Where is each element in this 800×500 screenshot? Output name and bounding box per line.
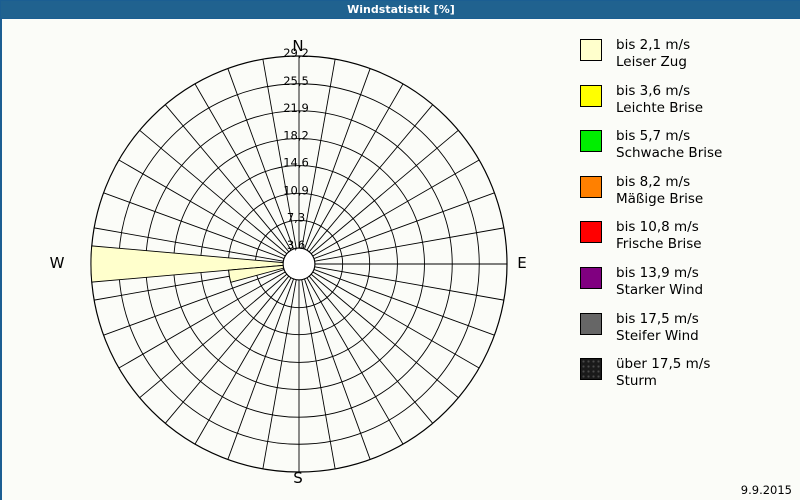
legend-color-swatch bbox=[580, 130, 602, 152]
legend-item[interactable]: bis 17,5 m/sSteifer Wind bbox=[580, 311, 699, 345]
legend-speed-label: bis 17,5 m/s bbox=[616, 311, 699, 327]
compass-label-north: N bbox=[268, 37, 328, 55]
window-title-bar: Windstatistik [%] bbox=[1, 1, 800, 18]
legend-speed-label: bis 13,9 m/s bbox=[616, 265, 699, 281]
legend-name-label: Leiser Zug bbox=[616, 54, 690, 71]
petal-layer bbox=[91, 246, 299, 282]
legend-name-label: Schwache Brise bbox=[616, 145, 722, 162]
legend-color-swatch bbox=[580, 313, 602, 335]
legend-label: bis 5,7 m/sSchwache Brise bbox=[616, 128, 722, 162]
legend-speed-label: bis 8,2 m/s bbox=[616, 174, 690, 190]
legend-color-swatch bbox=[580, 39, 602, 61]
window: Windstatistik [%] 3,67,310,914,618,221,9… bbox=[0, 0, 800, 500]
legend-name-label: Steifer Wind bbox=[616, 328, 699, 345]
center-hub bbox=[283, 248, 315, 280]
legend-item[interactable]: bis 13,9 m/sStarker Wind bbox=[580, 265, 703, 299]
compass-label-south: S bbox=[268, 469, 328, 487]
legend-speed-label: bis 10,8 m/s bbox=[616, 219, 699, 235]
date-stamp: 9.9.2015 bbox=[741, 483, 792, 497]
legend-label: bis 3,6 m/sLeichte Brise bbox=[616, 83, 703, 117]
legend-name-label: Mäßige Brise bbox=[616, 191, 703, 208]
radial-tick-label: 18,2 bbox=[283, 129, 309, 143]
legend-label: bis 17,5 m/sSteifer Wind bbox=[616, 311, 699, 345]
legend-label: bis 10,8 m/sFrische Brise bbox=[616, 219, 702, 253]
legend-speed-label: über 17,5 m/s bbox=[616, 356, 710, 372]
radial-tick-label: 10,9 bbox=[283, 183, 309, 197]
compass-label-west: W bbox=[27, 254, 87, 272]
legend-label: bis 8,2 m/sMäßige Brise bbox=[616, 174, 703, 208]
wind-petal bbox=[91, 246, 299, 282]
legend-item[interactable]: bis 3,6 m/sLeichte Brise bbox=[580, 83, 703, 117]
legend-color-swatch bbox=[580, 267, 602, 289]
legend-speed-label: bis 5,7 m/s bbox=[616, 128, 690, 144]
legend-color-swatch bbox=[580, 221, 602, 243]
legend-item[interactable]: über 17,5 m/sSturm bbox=[580, 356, 710, 390]
radial-tick-label: 25,5 bbox=[283, 74, 309, 88]
legend-color-swatch bbox=[580, 358, 602, 380]
legend-name-label: Starker Wind bbox=[616, 282, 703, 299]
radial-tick-labels: 3,67,310,914,618,221,925,529,2 bbox=[283, 46, 309, 252]
legend-item[interactable]: bis 8,2 m/sMäßige Brise bbox=[580, 174, 703, 208]
legend: bis 2,1 m/sLeiser Zugbis 3,6 m/sLeichte … bbox=[580, 37, 795, 407]
window-title: Windstatistik [%] bbox=[347, 3, 455, 16]
radial-tick-label: 3,6 bbox=[287, 238, 305, 252]
compass-label-east: E bbox=[492, 254, 552, 272]
legend-speed-label: bis 2,1 m/s bbox=[616, 37, 690, 53]
radial-tick-label: 21,9 bbox=[283, 101, 309, 115]
chart-canvas: 3,67,310,914,618,221,925,529,2 N E S W b… bbox=[2, 19, 800, 500]
legend-item[interactable]: bis 2,1 m/sLeiser Zug bbox=[580, 37, 690, 71]
legend-color-swatch bbox=[580, 85, 602, 107]
legend-item[interactable]: bis 10,8 m/sFrische Brise bbox=[580, 219, 702, 253]
legend-label: bis 13,9 m/sStarker Wind bbox=[616, 265, 703, 299]
legend-item[interactable]: bis 5,7 m/sSchwache Brise bbox=[580, 128, 722, 162]
legend-label: über 17,5 m/sSturm bbox=[616, 356, 710, 390]
legend-speed-label: bis 3,6 m/s bbox=[616, 83, 690, 99]
legend-name-label: Sturm bbox=[616, 373, 710, 390]
legend-label: bis 2,1 m/sLeiser Zug bbox=[616, 37, 690, 71]
radial-tick-label: 14,6 bbox=[283, 156, 309, 170]
legend-name-label: Leichte Brise bbox=[616, 100, 703, 117]
legend-name-label: Frische Brise bbox=[616, 236, 702, 253]
radial-tick-label: 7,3 bbox=[287, 210, 305, 224]
legend-color-swatch bbox=[580, 176, 602, 198]
wind-rose-plot: 3,67,310,914,618,221,925,529,2 N E S W bbox=[2, 19, 562, 500]
